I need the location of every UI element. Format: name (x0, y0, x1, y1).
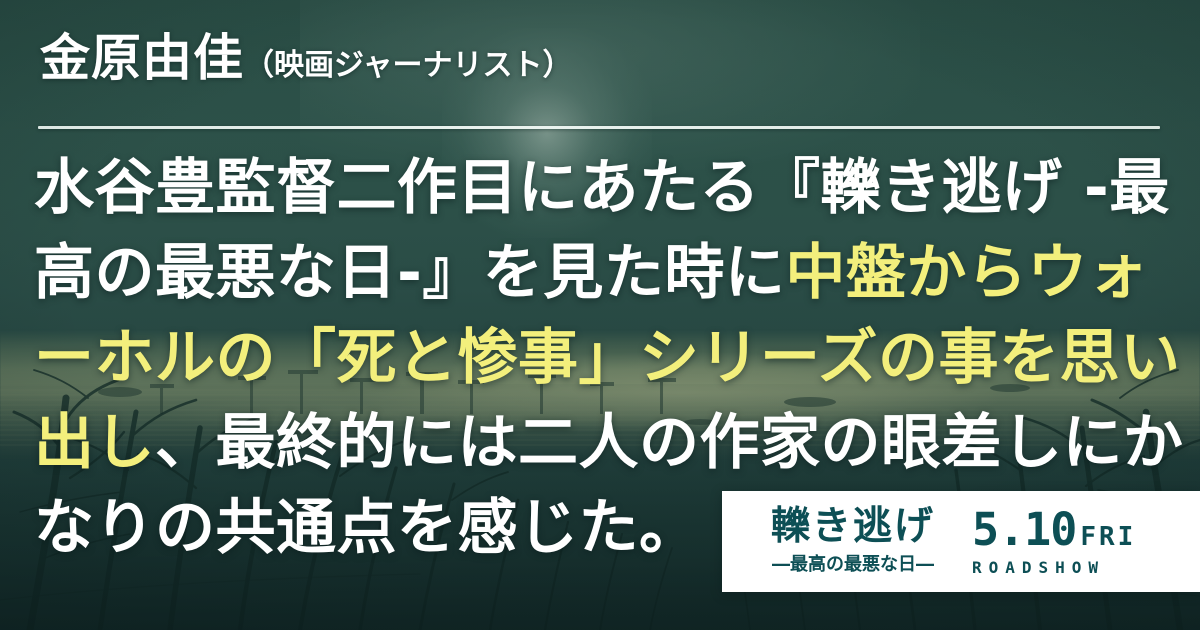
roadshow-label: ROADSHOW (972, 558, 1200, 577)
film-title: 轢き逃げ (740, 507, 966, 547)
film-logo-plate[interactable]: 轢き逃げ ―最高の最悪な日― 5.10 FRI ROADSHOW (722, 491, 1200, 592)
release-info-block: 5.10 FRI ROADSHOW (966, 507, 1200, 577)
release-day: FRI (1080, 524, 1136, 552)
header-divider (38, 126, 1160, 129)
speaker-role: （映画ジャーナリスト） (244, 48, 573, 83)
release-date: 5.10 (972, 507, 1076, 552)
promo-banner: 金原由佳（映画ジャーナリスト） 水谷豊監督二作目にあたる『轢き逃げ -最高の最悪… (0, 0, 1200, 630)
speaker-name: 金原由佳 (40, 29, 244, 87)
film-subtitle: ―最高の最悪な日― (740, 550, 966, 576)
release-date-row: 5.10 FRI (972, 507, 1200, 552)
speaker-credit: 金原由佳（映画ジャーナリスト） (40, 33, 573, 83)
film-title-block: 轢き逃げ ―最高の最悪な日― (722, 507, 966, 576)
